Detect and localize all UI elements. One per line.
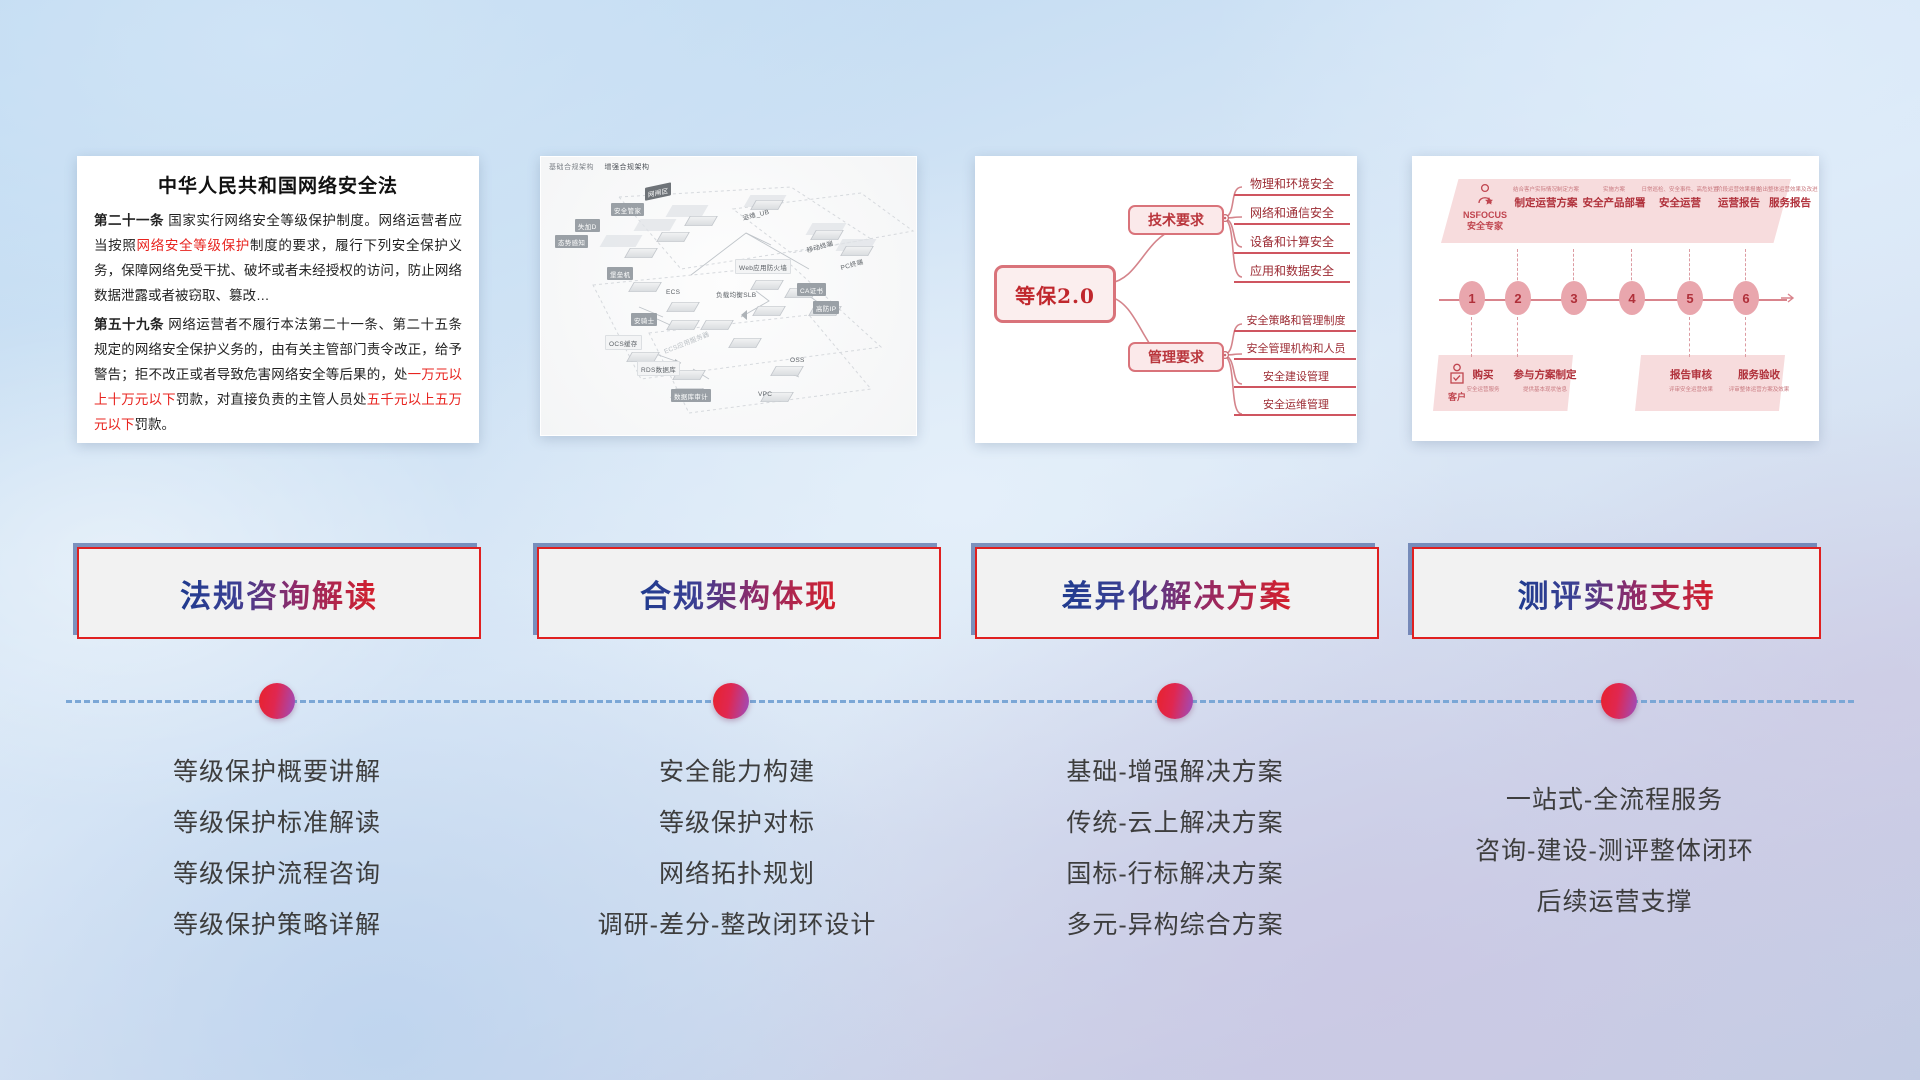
timeline-dashed-line bbox=[66, 700, 1854, 703]
arch-label-security-butler: 安全管家 bbox=[611, 203, 644, 216]
list-item: 传统-云上解决方案 bbox=[975, 798, 1375, 849]
provider-step-title: 制定运营方案 bbox=[1507, 195, 1585, 210]
timeline-dot-1: 1 bbox=[1459, 281, 1485, 315]
timeline-row bbox=[0, 672, 1920, 732]
provider-step-sub: 结合客户实际情况制定方案 bbox=[1507, 185, 1585, 193]
arch-label-bastion: 堡垒机 bbox=[607, 267, 633, 280]
headline-button-label: 法规咨询解读 bbox=[180, 571, 378, 616]
provider-step-6: 给出整体运营效果及改进建议 服务报告 bbox=[1757, 185, 1819, 210]
customer-step-title: 参与方案制定 bbox=[1503, 367, 1587, 382]
law-body: 中华人民共和国网络安全法 第二十一条 国家实行网络安全等级保护制度。网络运营者应… bbox=[78, 157, 478, 443]
timeline-tick bbox=[1745, 249, 1746, 285]
arch-node-ecs-app-2 bbox=[731, 335, 759, 351]
headline-button-compliance-architecture[interactable]: 合规架构体现 bbox=[537, 547, 941, 639]
timeline-tick bbox=[1631, 249, 1632, 285]
arch-label-rds: RDS数据库 bbox=[637, 361, 680, 376]
list-item: 等级保护概要讲解 bbox=[77, 747, 477, 798]
customer-step-sub: 安全运营服务 bbox=[1457, 385, 1509, 393]
arch-node-oss bbox=[773, 363, 801, 379]
timeline-marker-4[interactable] bbox=[1601, 683, 1637, 719]
arch-label-dbaudit: 数据库审计 bbox=[671, 389, 711, 402]
timeline-dot-2: 2 bbox=[1505, 281, 1531, 315]
timeline-tick bbox=[1745, 317, 1746, 357]
headline-button-assessment-support[interactable]: 测评实施支持 bbox=[1412, 547, 1821, 639]
mindmap-leaf: 安全管理机构和人员 bbox=[1234, 340, 1357, 360]
list-item: 等级保护对标 bbox=[537, 798, 937, 849]
provider-role-sub: 安全专家 bbox=[1457, 221, 1513, 232]
arch-node-bastion-host bbox=[631, 279, 659, 295]
list-item: 咨询-建设-测评整体闭环 bbox=[1412, 826, 1817, 877]
customer-step-participate: 参与方案制定 提供基本现状信息 bbox=[1503, 367, 1587, 395]
list-item: 等级保护策略详解 bbox=[77, 900, 477, 951]
mindmap-leaves-technical: 物理和环境安全 网络和通信安全 设备和计算安全 应用和数据安全 bbox=[1234, 175, 1350, 291]
mindmap-leaves-management: 安全策略和管理制度 安全管理机构和人员 安全建设管理 安全运维管理 bbox=[1234, 312, 1357, 424]
article-59-text-c: 罚款。 bbox=[135, 417, 176, 432]
arch-label-vpc: VPC bbox=[755, 389, 775, 399]
list-item: 一站式-全流程服务 bbox=[1412, 775, 1817, 826]
list-item: 国标-行标解决方案 bbox=[975, 849, 1375, 900]
timeline-dot-4: 4 bbox=[1619, 281, 1645, 315]
customer-step-purchase: 购买 安全运营服务 bbox=[1457, 367, 1509, 395]
detail-column-assessment: 一站式-全流程服务 咨询-建设-测评整体闭环 后续运营支撑 bbox=[1412, 775, 1817, 928]
article-59-label: 第五十九条 bbox=[94, 317, 164, 332]
list-item: 安全能力构建 bbox=[537, 747, 937, 798]
arch-label-waf: Web应用防火墙 bbox=[735, 259, 791, 274]
customer-step-sub: 评审整体运营方案及效果 bbox=[1721, 385, 1797, 393]
card-cloud-architecture[interactable]: 基础合规架构 增强合规架构 bbox=[540, 156, 917, 436]
arch-node-ecs bbox=[669, 299, 697, 315]
arch-node-cloud-firewall bbox=[659, 229, 687, 245]
provider-role-name: NSFOCUS bbox=[1457, 210, 1513, 221]
article-21-highlight: 网络安全等级保护 bbox=[137, 238, 250, 253]
arch-label-cloud-fw: 失加D bbox=[575, 219, 600, 232]
headline-button-regulation-consulting[interactable]: 法规咨询解读 bbox=[77, 547, 481, 639]
timeline-marker-1[interactable] bbox=[259, 683, 295, 719]
timeline-tick bbox=[1573, 249, 1574, 285]
timeline-marker-2[interactable] bbox=[713, 683, 749, 719]
detail-column-regulation: 等级保护概要讲解 等级保护标准解读 等级保护流程咨询 等级保护策略详解 bbox=[77, 747, 477, 951]
headline-button-differentiated-solution[interactable]: 差异化解决方案 bbox=[975, 547, 1379, 639]
arch-node-security-butler bbox=[687, 213, 715, 229]
law-article-59: 第五十九条 网络运营者不履行本法第二十一条、第二十五条规定的网络安全保护义务的，… bbox=[94, 312, 462, 437]
law-title: 中华人民共和国网络安全法 bbox=[94, 171, 462, 198]
list-item: 后续运营支撑 bbox=[1412, 877, 1817, 928]
customer-step-title: 服务验收 bbox=[1721, 367, 1797, 382]
arch-label-agent: 安骑士 bbox=[631, 313, 657, 326]
mindmap-leaf: 设备和计算安全 bbox=[1234, 233, 1350, 254]
arch-label-antiddos: 高防IP bbox=[813, 301, 839, 314]
mindmap-leaf: 应用和数据安全 bbox=[1234, 262, 1350, 283]
article-21-label: 第二十一条 bbox=[94, 213, 164, 228]
list-item: 等级保护标准解读 bbox=[77, 798, 477, 849]
customer-step-title: 报告审核 bbox=[1655, 367, 1727, 382]
headline-button-row: 法规咨询解读 合规架构体现 差异化解决方案 测评实施支持 bbox=[0, 547, 1920, 645]
law-article-21: 第二十一条 国家实行网络安全等级保护制度。网络运营者应当按照网络安全等级保护制度… bbox=[94, 208, 462, 308]
provider-step-title: 服务报告 bbox=[1757, 195, 1819, 210]
timeline-tick bbox=[1689, 317, 1690, 357]
mindmap: 等保2.0 技术要求 管理要求 物理和环境安全 网络和通信安全 设备和计算安全 … bbox=[976, 157, 1356, 442]
arch-label-ecs: ECS bbox=[663, 287, 683, 297]
arch-label-ocs: OCS缓存 bbox=[605, 335, 642, 350]
timeline-tick bbox=[1517, 317, 1518, 357]
mindmap-leaf: 安全运维管理 bbox=[1234, 396, 1357, 416]
mindmap-root: 等保2.0 bbox=[994, 265, 1116, 323]
timeline-dot-3: 3 bbox=[1561, 281, 1587, 315]
mindmap-branch-management: 管理要求 bbox=[1128, 342, 1224, 372]
timeline-dot-5: 5 bbox=[1677, 281, 1703, 315]
arch-node-situational-awareness bbox=[627, 245, 655, 261]
customer-step-acceptance: 服务验收 评审整体运营方案及效果 bbox=[1721, 367, 1797, 395]
customer-step-sub: 提供基本现状信息 bbox=[1503, 385, 1587, 393]
list-item: 等级保护流程咨询 bbox=[77, 849, 477, 900]
list-item: 调研-差分-整改闭环设计 bbox=[537, 900, 937, 951]
timeline-tick bbox=[1689, 249, 1690, 285]
arch-label-situational: 态势感知 bbox=[555, 235, 588, 248]
list-item: 基础-增强解决方案 bbox=[975, 747, 1375, 798]
image-card-row: 中华人民共和国网络安全法 第二十一条 国家实行网络安全等级保护制度。网络运营者应… bbox=[0, 150, 1920, 450]
customer-step-report-review: 报告审核 评审安全运营效果 bbox=[1655, 367, 1727, 395]
timeline-dot-6: 6 bbox=[1733, 281, 1759, 315]
nsfocus-timeline: NSFOCUS 安全专家 结合客户实际情况制定方案 制定运营方案 实施方案 安全… bbox=[1413, 157, 1818, 440]
detail-list-row: 等级保护概要讲解 等级保护标准解读 等级保护流程咨询 等级保护策略详解 安全能力… bbox=[0, 740, 1920, 1040]
customer-step-title: 购买 bbox=[1457, 367, 1509, 382]
timeline-tick bbox=[1471, 317, 1472, 357]
arch-label-ca: CA证书 bbox=[797, 283, 826, 296]
timeline-arrow-icon bbox=[1781, 291, 1799, 309]
architecture-diagram: 基础合规架构 增强合规架构 bbox=[541, 157, 916, 435]
mindmap-branch-technical: 技术要求 bbox=[1128, 205, 1224, 235]
provider-role-block: NSFOCUS 安全专家 bbox=[1457, 183, 1513, 232]
detail-column-solution: 基础-增强解决方案 传统-云上解决方案 国标-行标解决方案 多元-异构综合方案 bbox=[975, 747, 1375, 951]
detail-column-architecture: 安全能力构建 等级保护对标 网络拓扑规划 调研-差分-整改闭环设计 bbox=[537, 747, 937, 951]
article-59-text-b: 罚款，对直接负责的主管人员处 bbox=[176, 392, 367, 407]
card-djcp-mindmap[interactable]: 等保2.0 技术要求 管理要求 物理和环境安全 网络和通信安全 设备和计算安全 … bbox=[975, 156, 1357, 443]
customer-step-sub: 评审安全运营效果 bbox=[1655, 385, 1727, 393]
arch-label-oss: OSS bbox=[787, 355, 808, 365]
arch-node-slb bbox=[755, 303, 783, 319]
provider-step-sub: 给出整体运营效果及改进建议 bbox=[1757, 185, 1819, 193]
card-nsfocus-service-flow[interactable]: NSFOCUS 安全专家 结合客户实际情况制定方案 制定运营方案 实施方案 安全… bbox=[1412, 156, 1819, 441]
mindmap-leaf: 物理和环境安全 bbox=[1234, 175, 1350, 196]
arch-label-slb: 负载均衡SLB bbox=[713, 287, 759, 300]
mindmap-leaf: 安全建设管理 bbox=[1234, 368, 1357, 388]
headline-button-label: 差异化解决方案 bbox=[1062, 571, 1293, 616]
headline-button-label: 测评实施支持 bbox=[1518, 571, 1716, 616]
card-cybersecurity-law[interactable]: 中华人民共和国网络安全法 第二十一条 国家实行网络安全等级保护制度。网络运营者应… bbox=[77, 156, 479, 443]
expert-person-icon bbox=[1474, 183, 1496, 205]
list-item: 网络拓扑规划 bbox=[537, 849, 937, 900]
mindmap-leaf: 安全策略和管理制度 bbox=[1234, 312, 1357, 332]
provider-step-2: 结合客户实际情况制定方案 制定运营方案 bbox=[1507, 185, 1585, 210]
list-item: 多元-异构综合方案 bbox=[975, 900, 1375, 951]
headline-button-label: 合规架构体现 bbox=[640, 571, 838, 616]
mindmap-leaf: 网络和通信安全 bbox=[1234, 204, 1350, 225]
timeline-tick bbox=[1517, 249, 1518, 285]
timeline-marker-3[interactable] bbox=[1157, 683, 1193, 719]
